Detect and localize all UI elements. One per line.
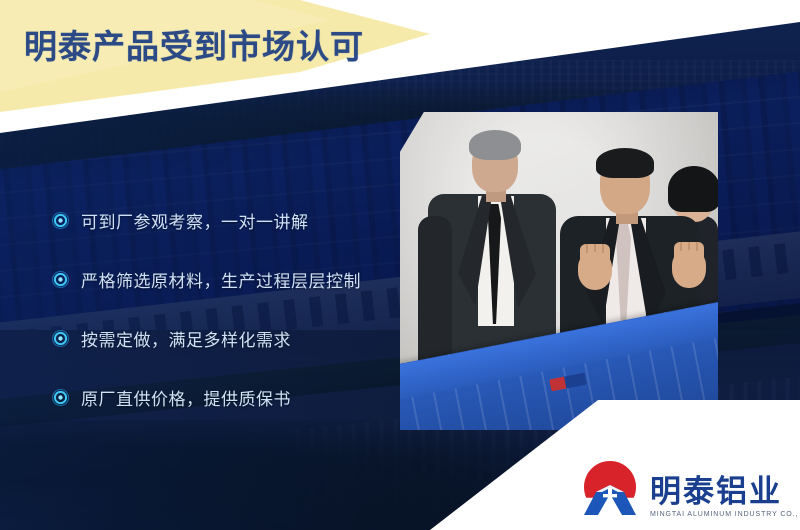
logo-text-block: 明泰铝业 MINGTAI ALUMINUM INDUSTRY CO., LTD [650, 476, 800, 518]
target-circle-icon [52, 389, 69, 406]
list-item: 原厂直供价格，提供质保书 [52, 385, 402, 410]
person-right-hair-bun [706, 186, 718, 208]
company-name-en: MINGTAI ALUMINUM INDUSTRY CO., LTD [650, 511, 800, 518]
list-item: 按需定做，满足多样化需求 [52, 326, 402, 351]
business-people-photo [400, 112, 718, 430]
list-item-label: 原厂直供价格，提供质保书 [81, 385, 291, 410]
target-circle-icon [52, 330, 69, 347]
page-title: 明泰产品受到市场认可 [24, 20, 364, 68]
person-center-right-hand [672, 250, 706, 288]
list-item-label: 可到厂参观考察，一对一讲解 [81, 208, 309, 233]
list-item: 严格筛选原材料，生产过程层层控制 [52, 267, 402, 292]
person-center-hair [596, 148, 654, 178]
company-name-cn: 明泰铝业 [650, 476, 800, 507]
feature-list: 可到厂参观考察，一对一讲解 严格筛选原材料，生产过程层层控制 按需定做， [52, 208, 402, 444]
list-item-label: 按需定做，满足多样化需求 [81, 326, 291, 351]
list-item: 可到厂参观考察，一对一讲解 [52, 208, 402, 233]
banner-canvas: 明泰产品受到市场认可 可到厂参观考察，一对一讲解 严格筛选原材料，生 [0, 0, 800, 530]
company-logo: 明泰铝业 MINGTAI ALUMINUM INDUSTRY CO., LTD [578, 458, 800, 518]
target-circle-icon [52, 212, 69, 229]
person-center-left-hand [578, 252, 612, 290]
list-item-label: 严格筛选原材料，生产过程层层控制 [81, 267, 361, 292]
target-circle-icon [52, 271, 69, 288]
person-left-hair [469, 130, 521, 160]
mingtai-sun-mountain-icon [578, 458, 642, 518]
